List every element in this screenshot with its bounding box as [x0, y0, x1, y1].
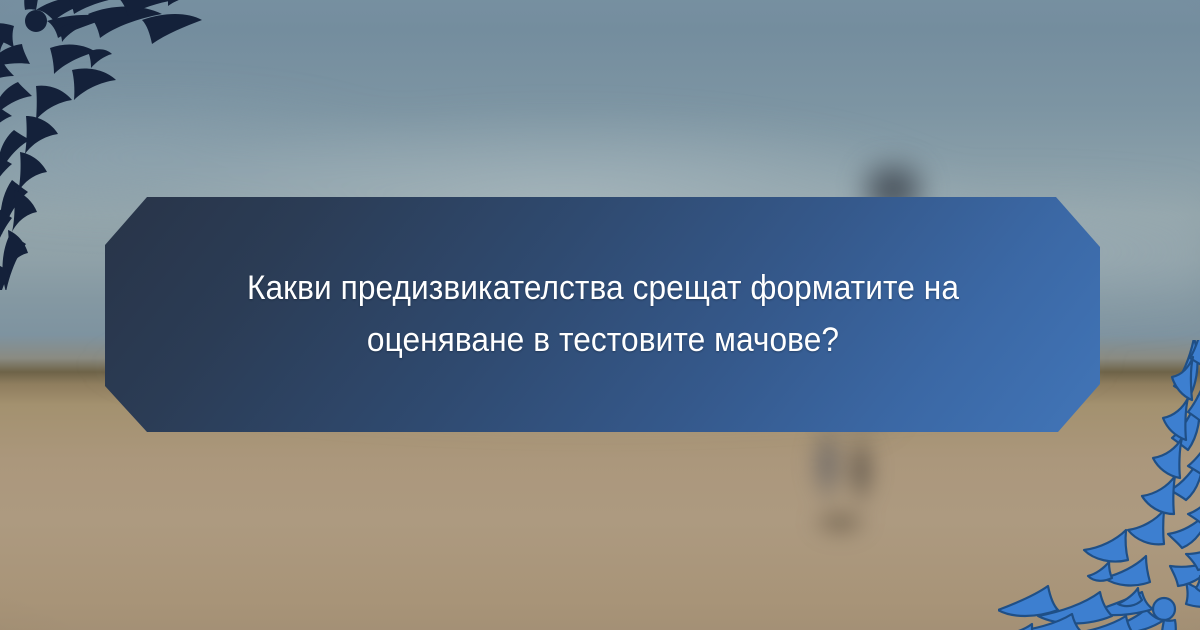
- page-title: Какви предизвикателства срещат форматите…: [235, 263, 970, 366]
- headline-banner: Какви предизвикателства срещат форматите…: [105, 197, 1100, 432]
- share-card: Какви предизвикателства срещат форматите…: [0, 0, 1200, 630]
